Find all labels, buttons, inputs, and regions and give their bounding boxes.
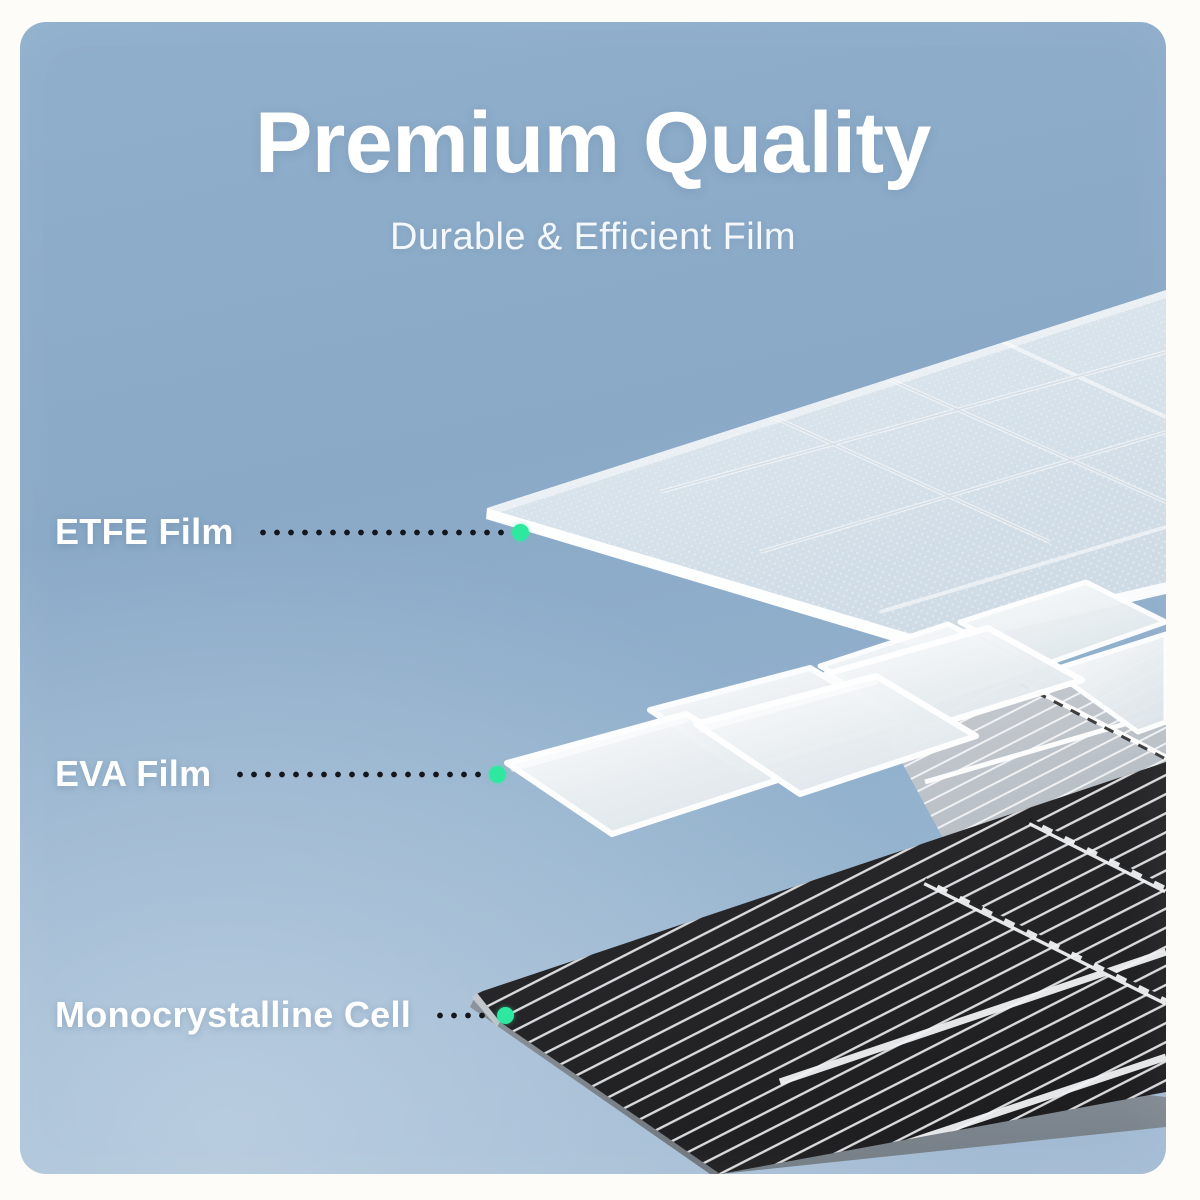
page-subtitle: Durable & Efficient Film (20, 218, 1166, 256)
marker-dot-etfe (512, 524, 529, 541)
leader-line-mono (433, 1012, 493, 1019)
infographic-stage: Premium Quality Durable & Efficient Film… (0, 0, 1200, 1200)
callout-eva-film: EVA Film (55, 750, 506, 798)
callout-etfe-film: ETFE Film (55, 508, 529, 556)
marker-dot-mono (497, 1007, 514, 1024)
leader-line-etfe (256, 529, 508, 536)
marker-dot-eva (489, 766, 506, 783)
layer-monocrystalline-cell (450, 742, 1166, 1174)
callout-monocrystalline-cell: Monocrystalline Cell (55, 991, 514, 1039)
callout-label-eva: EVA Film (55, 756, 211, 792)
callout-label-mono: Monocrystalline Cell (55, 997, 411, 1033)
leader-line-eva (233, 771, 485, 778)
product-infographic-card: Premium Quality Durable & Efficient Film… (20, 22, 1166, 1174)
callout-label-etfe: ETFE Film (55, 514, 234, 550)
page-title: Premium Quality (20, 100, 1166, 186)
